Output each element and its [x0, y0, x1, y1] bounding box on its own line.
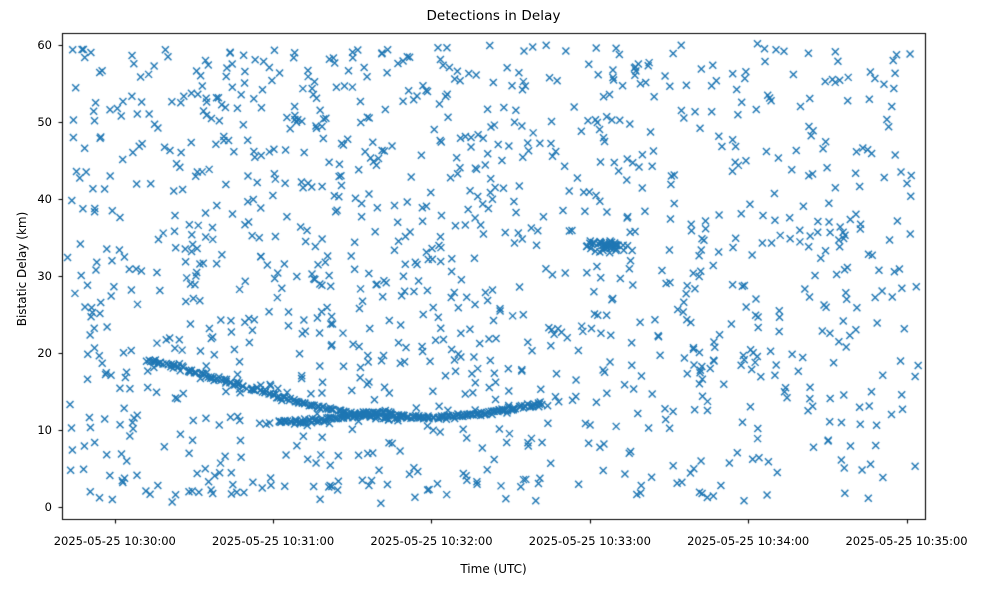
y-axis-label: Bistatic Delay (km)	[15, 189, 29, 349]
y-tick-label: 0	[28, 500, 52, 514]
y-tick-label: 30	[28, 269, 52, 283]
scatter-plot-canvas	[0, 0, 987, 590]
x-tick-label: 2025-05-25 10:34:00	[687, 534, 809, 548]
x-tick-label: 2025-05-25 10:33:00	[529, 534, 651, 548]
y-tick-label: 60	[28, 38, 52, 52]
page-title: Detections in Delay	[0, 8, 987, 24]
x-tick-label: 2025-05-25 10:35:00	[845, 534, 967, 548]
x-tick-label: 2025-05-25 10:32:00	[370, 534, 492, 548]
matplotlib-figure: Detections in Delay Time (UTC) Bistatic …	[0, 0, 987, 590]
y-tick-label: 40	[28, 192, 52, 206]
y-tick-label: 50	[28, 115, 52, 129]
y-tick-label: 20	[28, 346, 52, 360]
x-tick-label: 2025-05-25 10:31:00	[212, 534, 334, 548]
x-axis-label: Time (UTC)	[0, 562, 987, 576]
y-tick-label: 10	[28, 423, 52, 437]
x-tick-label: 2025-05-25 10:30:00	[54, 534, 176, 548]
